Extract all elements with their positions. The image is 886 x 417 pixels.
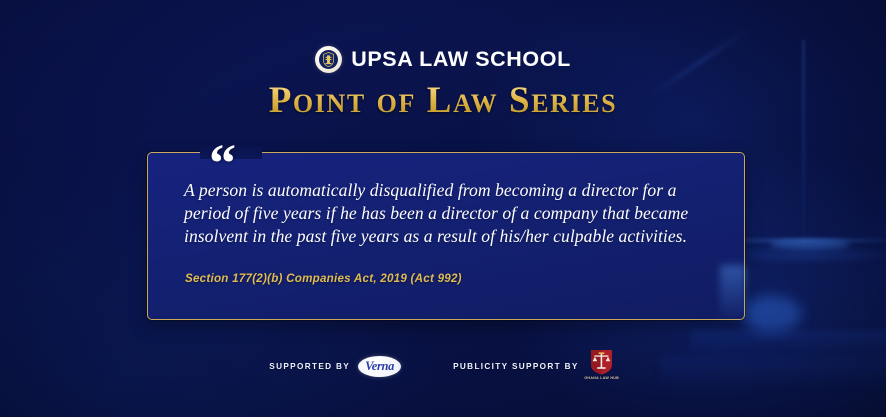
ghana-law-hub-caption: GHANA LAW HUB [584,376,619,380]
quote-text: A person is automatically disqualified f… [184,179,716,248]
quote-citation: Section 177(2)(b) Companies Act, 2019 (A… [185,272,462,285]
verna-oval-logo: Verna [358,356,401,377]
blue-edge-glow [742,296,802,332]
credit-publicity-support-by: PUBLICITY SUPPORT BY GHANA LAW HUB [453,349,617,383]
credit-label: SUPPORTED BY [269,362,350,371]
poster-canvas: UPSA LAW SCHOOL Point of Law Series A pe… [0,0,886,417]
credit-supported-by: SUPPORTED BY Verna [269,356,401,377]
scales-highlight-glow [770,240,850,249]
quote-card: A person is automatically disqualified f… [147,152,745,320]
footer-credits: SUPPORTED BY Verna PUBLICITY SUPPORT BY [0,349,886,383]
brand-lockup: UPSA LAW SCHOOL [0,46,886,73]
brand-name: UPSA LAW SCHOOL [351,49,571,71]
ghana-law-hub-scales-logo: GHANA LAW HUB [587,349,617,383]
page-title: Point of Law Series [0,82,886,121]
verna-logo-text: Verna [365,360,394,373]
quote-mark-icon: “ [209,136,235,190]
credit-label: PUBLICITY SUPPORT BY [453,362,579,371]
upsa-crest-icon [315,46,342,73]
